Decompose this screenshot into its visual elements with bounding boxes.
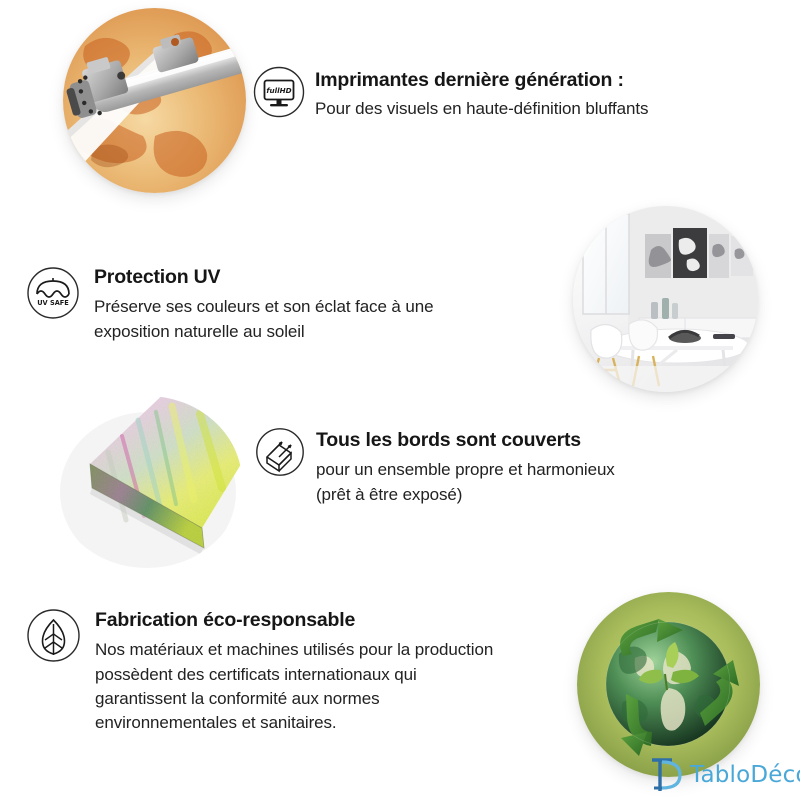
feature-eco-manufacturing-title: Fabrication éco-responsable [95,609,493,631]
fullhd-monitor-icon: fullHD [253,66,305,123]
uv-safe-label: UV SAFE [37,299,69,307]
tablodeco-monogram-icon [650,757,684,793]
feature-eco-manufacturing-line-1: possèdent des certificats internationaux… [95,663,493,687]
feature-uv-protection: UV SAFE Protection UV Préserve ses coule… [26,266,433,344]
feature-eco-manufacturing: Fabrication éco-responsable Nos matériau… [26,608,493,735]
feature-uv-protection-title: Protection UV [94,266,433,288]
feature-eco-manufacturing-text: Fabrication éco-responsable Nos matériau… [95,608,493,735]
canvas-photo-art [52,396,242,568]
uv-safe-umbrella-icon: UV SAFE [26,266,80,325]
leaf-icon [26,608,81,668]
eco-globe-photo [577,592,760,777]
feature-eco-manufacturing-line-2: garantissent la conformité aux normes [95,687,493,711]
printer-photo-art [63,8,246,193]
brand-logo[interactable]: TabloDéco ™ fr [650,757,800,793]
printer-photo [63,8,246,193]
feature-eco-manufacturing-line-3: environnementales et sanitaires. [95,711,493,735]
feature-printers: fullHD Imprimantes dernière génération :… [253,66,648,123]
interior-photo-art [573,206,758,392]
interior-photo [573,206,758,392]
feature-eco-manufacturing-line-0: Nos matériaux et machines utilisés pour … [95,638,493,662]
feature-printers-title: Imprimantes dernière génération : [315,69,648,91]
feature-uv-protection-line-0: Préserve ses couleurs et son éclat face … [94,295,433,319]
eco-globe-photo-art [577,592,760,777]
feature-printers-text: Imprimantes dernière génération : Pour d… [315,66,648,122]
fullhd-label: fullHD [266,86,291,95]
feature-covered-edges: Tous les bords sont couverts pour un ens… [255,427,615,507]
brand-name: TabloDéco ™ [690,762,800,788]
canvas-photo [52,396,242,568]
promo-infographic: fullHD Imprimantes dernière génération :… [0,0,800,800]
wrapped-canvas-edge-icon [255,427,305,482]
feature-printers-line-0: Pour des visuels en haute-définition blu… [315,97,648,121]
feature-uv-protection-text: Protection UV Préserve ses couleurs et s… [94,266,433,344]
brand-name-text: TabloDéco [690,762,800,788]
feature-uv-protection-line-1: exposition naturelle au soleil [94,320,433,344]
feature-covered-edges-title: Tous les bords sont couverts [316,429,615,451]
feature-covered-edges-line-0: pour un ensemble propre et harmonieux [316,458,615,482]
feature-covered-edges-text: Tous les bords sont couverts pour un ens… [316,427,615,507]
feature-covered-edges-line-1: (prêt à être exposé) [316,483,615,507]
